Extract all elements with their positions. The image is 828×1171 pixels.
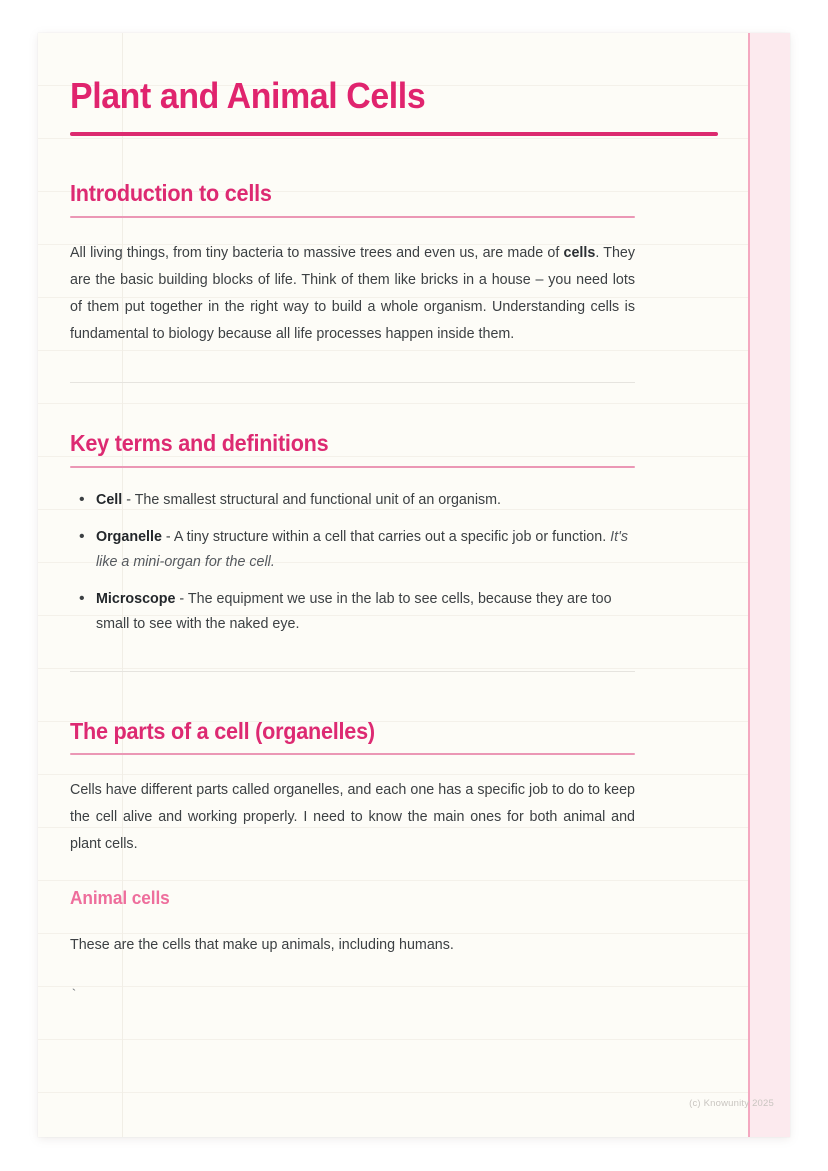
paragraph-animal-cells: These are the cells that make up animals…	[70, 932, 635, 959]
page-title: Plant and Animal Cells	[70, 33, 631, 116]
list-item: Organelle - A tiny structure within a ce…	[70, 525, 635, 575]
footer-copyright: (c) Knowunity 2025	[689, 1098, 774, 1109]
section-divider	[70, 671, 635, 672]
right-margin-line	[748, 33, 750, 1137]
term-name: Cell	[96, 492, 122, 508]
title-underline-rule	[70, 132, 718, 136]
list-item: Cell - The smallest structural and funct…	[70, 488, 635, 513]
term-name: Microscope	[96, 591, 175, 607]
right-margin-band	[750, 33, 790, 1137]
heading-introduction-to-cells: Introduction to cells	[70, 180, 631, 208]
paragraph-introduction: All living things, from tiny bacteria to…	[70, 240, 635, 348]
subheading-animal-cells: Animal cells	[70, 888, 643, 910]
section-introduction: Introduction to cells All living things,…	[70, 180, 667, 348]
section-parts-of-a-cell: The parts of a cell (organelles) Cells h…	[70, 718, 667, 1003]
paragraph-intro-lead: All living things, from tiny bacteria to…	[70, 245, 564, 261]
list-item: Microscope - The equipment we use in the…	[70, 587, 635, 637]
heading-underline-rule	[70, 466, 635, 468]
key-terms-list: Cell - The smallest structural and funct…	[70, 488, 635, 637]
term-name: Organelle	[96, 529, 162, 545]
stray-backtick-mark: `	[70, 987, 667, 1003]
term-separator: -	[162, 529, 174, 545]
document-content: Plant and Animal Cells Introduction to c…	[70, 33, 667, 1137]
term-separator: -	[175, 591, 187, 607]
term-definition: The smallest structural and functional u…	[135, 492, 501, 508]
section-divider	[70, 382, 635, 383]
heading-underline-rule	[70, 216, 635, 218]
paragraph-intro-bold-term: cells	[564, 245, 596, 261]
heading-underline-rule	[70, 753, 635, 755]
heading-key-terms-and-definitions: Key terms and definitions	[70, 430, 631, 458]
document-page: Plant and Animal Cells Introduction to c…	[38, 33, 790, 1137]
term-separator: -	[122, 492, 134, 508]
term-definition: A tiny structure within a cell that carr…	[174, 529, 610, 545]
paragraph-parts-of-a-cell: Cells have different parts called organe…	[70, 777, 635, 858]
heading-parts-of-a-cell: The parts of a cell (organelles)	[70, 718, 631, 746]
section-key-terms: Key terms and definitions Cell - The sma…	[70, 430, 667, 637]
